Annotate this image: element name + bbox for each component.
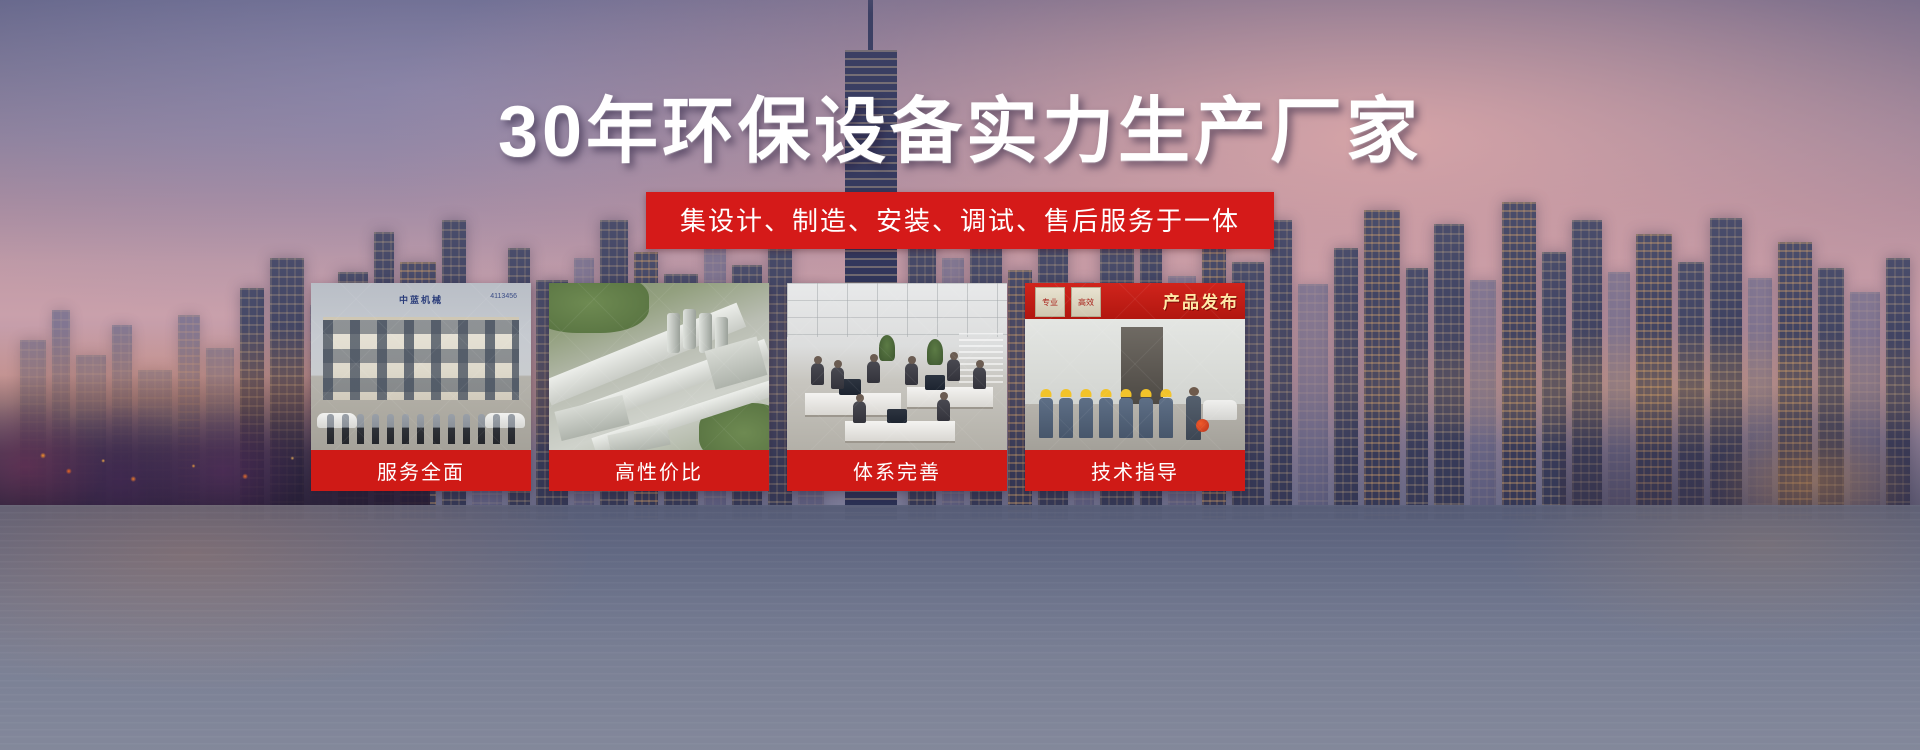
feature-card-guidance[interactable]: 产品发布 专业 高效 [1025,283,1245,491]
workshop-banner-text: 产品发布 [1163,288,1239,313]
workshop-staff-photo: 产品发布 专业 高效 [1025,283,1245,450]
building-phone-text: 4113456 [490,293,517,300]
feature-card-system[interactable]: 体系完善 [787,283,1007,491]
tower-spire [868,0,873,50]
office-workspace-photo [787,283,1007,450]
river-water [0,505,1920,750]
right-riverbank-glow [1560,385,1920,505]
feature-card-label: 服务全面 [311,450,531,491]
subtitle-ribbon: 集设计、制造、安装、调试、售后服务于一体 [646,192,1274,249]
building-sign-text: 中蓝机械 [399,293,443,306]
feature-card-label: 体系完善 [787,450,1007,491]
subtitle-container: 集设计、制造、安装、调试、售后服务于一体 [0,192,1920,249]
page-title: 30年环保设备实力生产厂家 [0,96,1920,168]
feature-card-label: 技术指导 [1025,450,1245,491]
company-headquarters-photo: 中蓝机械 4113456 [311,283,531,450]
aerial-factory-plant-photo [549,283,769,450]
feature-card-value[interactable]: 高性价比 [549,283,769,491]
feature-card-row: 中蓝机械 4113456 服务全面 [311,283,1245,491]
hero-banner: 30年环保设备实力生产厂家 集设计、制造、安装、调试、售后服务于一体 中蓝机械 … [0,0,1920,750]
feature-card-service[interactable]: 中蓝机械 4113456 服务全面 [311,283,531,491]
feature-card-label: 高性价比 [549,450,769,491]
